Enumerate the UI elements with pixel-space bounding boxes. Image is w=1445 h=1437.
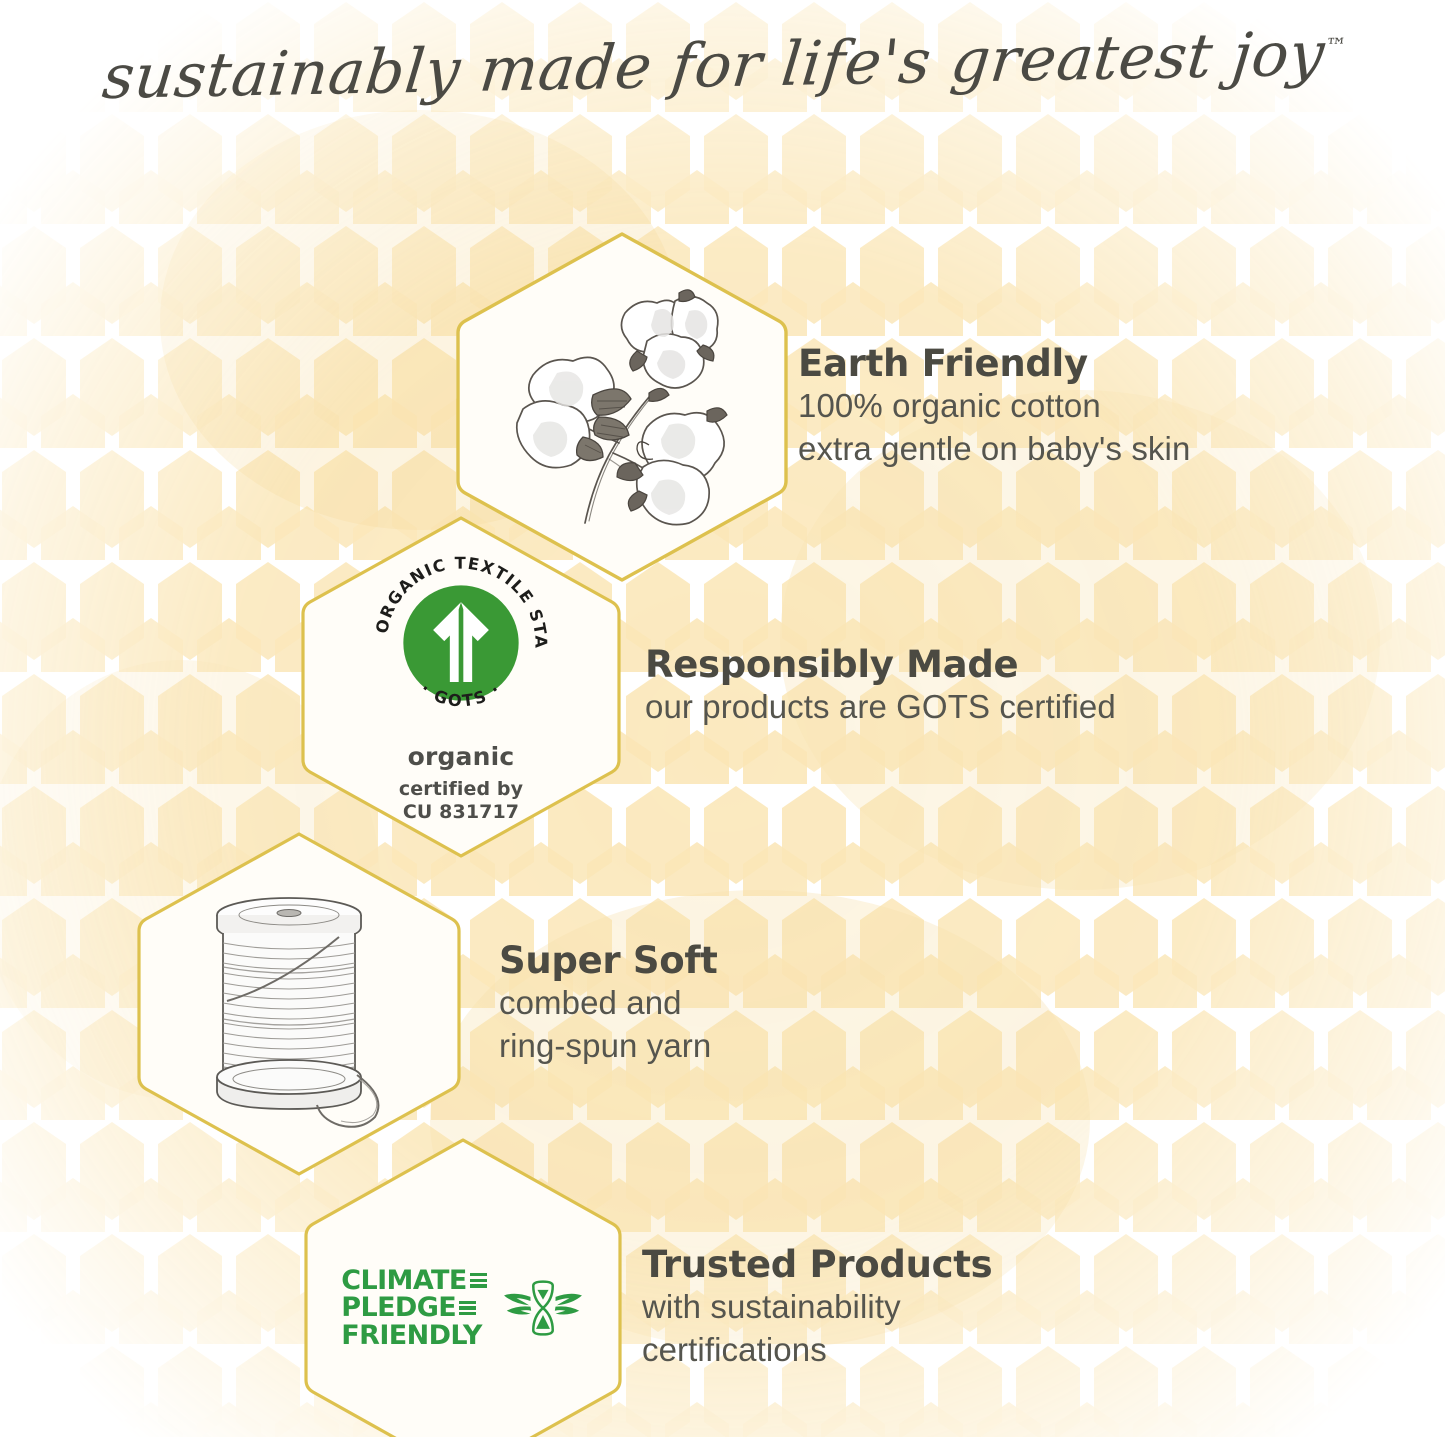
cpf-word-friendly: FRIENDLY (341, 1322, 481, 1350)
feature-line-2: extra gentle on baby's skin (798, 428, 1190, 471)
feature-heading: Responsibly Made (645, 645, 1116, 684)
spool-illustration-holder (133, 828, 465, 1180)
feature-line-1: combed and (499, 982, 718, 1025)
feature-trusted-products: CLIMATE PLEDGE FRIENDLY (300, 1134, 992, 1437)
feature-heading: Super Soft (499, 941, 718, 980)
climate-pledge-friendly-badge: CLIMATE PLEDGE FRIENDLY (341, 1267, 584, 1350)
gots-certifier-code: CU 831717 (399, 801, 523, 824)
cpf-wordmark: CLIMATE PLEDGE FRIENDLY (341, 1267, 486, 1350)
cpf-word-climate: CLIMATE (341, 1267, 466, 1295)
hex-card-climate-pledge: CLIMATE PLEDGE FRIENDLY (300, 1134, 626, 1437)
feature-copy-trusted-products: Trusted Products with sustainability cer… (642, 1245, 992, 1372)
cpf-word-pledge: PLEDGE (341, 1294, 456, 1322)
hex-card-spool (133, 828, 465, 1180)
hex-card-gots: GLOBAL ORGANIC TEXTILE STANDARD · GOTS ·… (297, 512, 625, 862)
thread-spool-sketch (189, 879, 409, 1129)
feature-heading: Earth Friendly (798, 344, 1190, 383)
cpf-bars-icon (459, 1301, 476, 1315)
feature-line-2: certifications (642, 1329, 992, 1372)
feature-line-1: 100% organic cotton (798, 385, 1190, 428)
gots-organic-label: organic (408, 742, 515, 771)
feature-line-1: with sustainability (642, 1286, 992, 1329)
gots-badge: GLOBAL ORGANIC TEXTILE STANDARD · GOTS ·… (368, 550, 554, 824)
climate-pledge-badge-holder: CLIMATE PLEDGE FRIENDLY (300, 1134, 626, 1437)
gots-seal-icon: GLOBAL ORGANIC TEXTILE STANDARD · GOTS · (368, 550, 554, 736)
cpf-bars-icon (470, 1273, 487, 1287)
gots-badge-holder: GLOBAL ORGANIC TEXTILE STANDARD · GOTS ·… (297, 512, 625, 862)
feature-line-1: our products are GOTS certified (645, 686, 1116, 729)
feature-heading: Trusted Products (642, 1245, 992, 1284)
feature-super-soft: Super Soft combed and ring-spun yarn (133, 828, 718, 1180)
cotton-branch-sketch (497, 277, 747, 537)
feature-responsibly-made: GLOBAL ORGANIC TEXTILE STANDARD · GOTS ·… (297, 512, 1116, 862)
winged-hourglass-icon (501, 1276, 585, 1340)
gots-certified-by-label: certified by (399, 778, 523, 801)
infographic-canvas: sustainably made for life's greatest joy… (0, 0, 1445, 1437)
feature-copy-earth-friendly: Earth Friendly 100% organic cotton extra… (798, 344, 1190, 471)
feature-copy-responsibly-made: Responsibly Made our products are GOTS c… (645, 645, 1116, 729)
gots-certified-by: certified by CU 831717 (399, 778, 523, 824)
feature-copy-super-soft: Super Soft combed and ring-spun yarn (499, 941, 718, 1068)
feature-line-2: ring-spun yarn (499, 1025, 718, 1068)
